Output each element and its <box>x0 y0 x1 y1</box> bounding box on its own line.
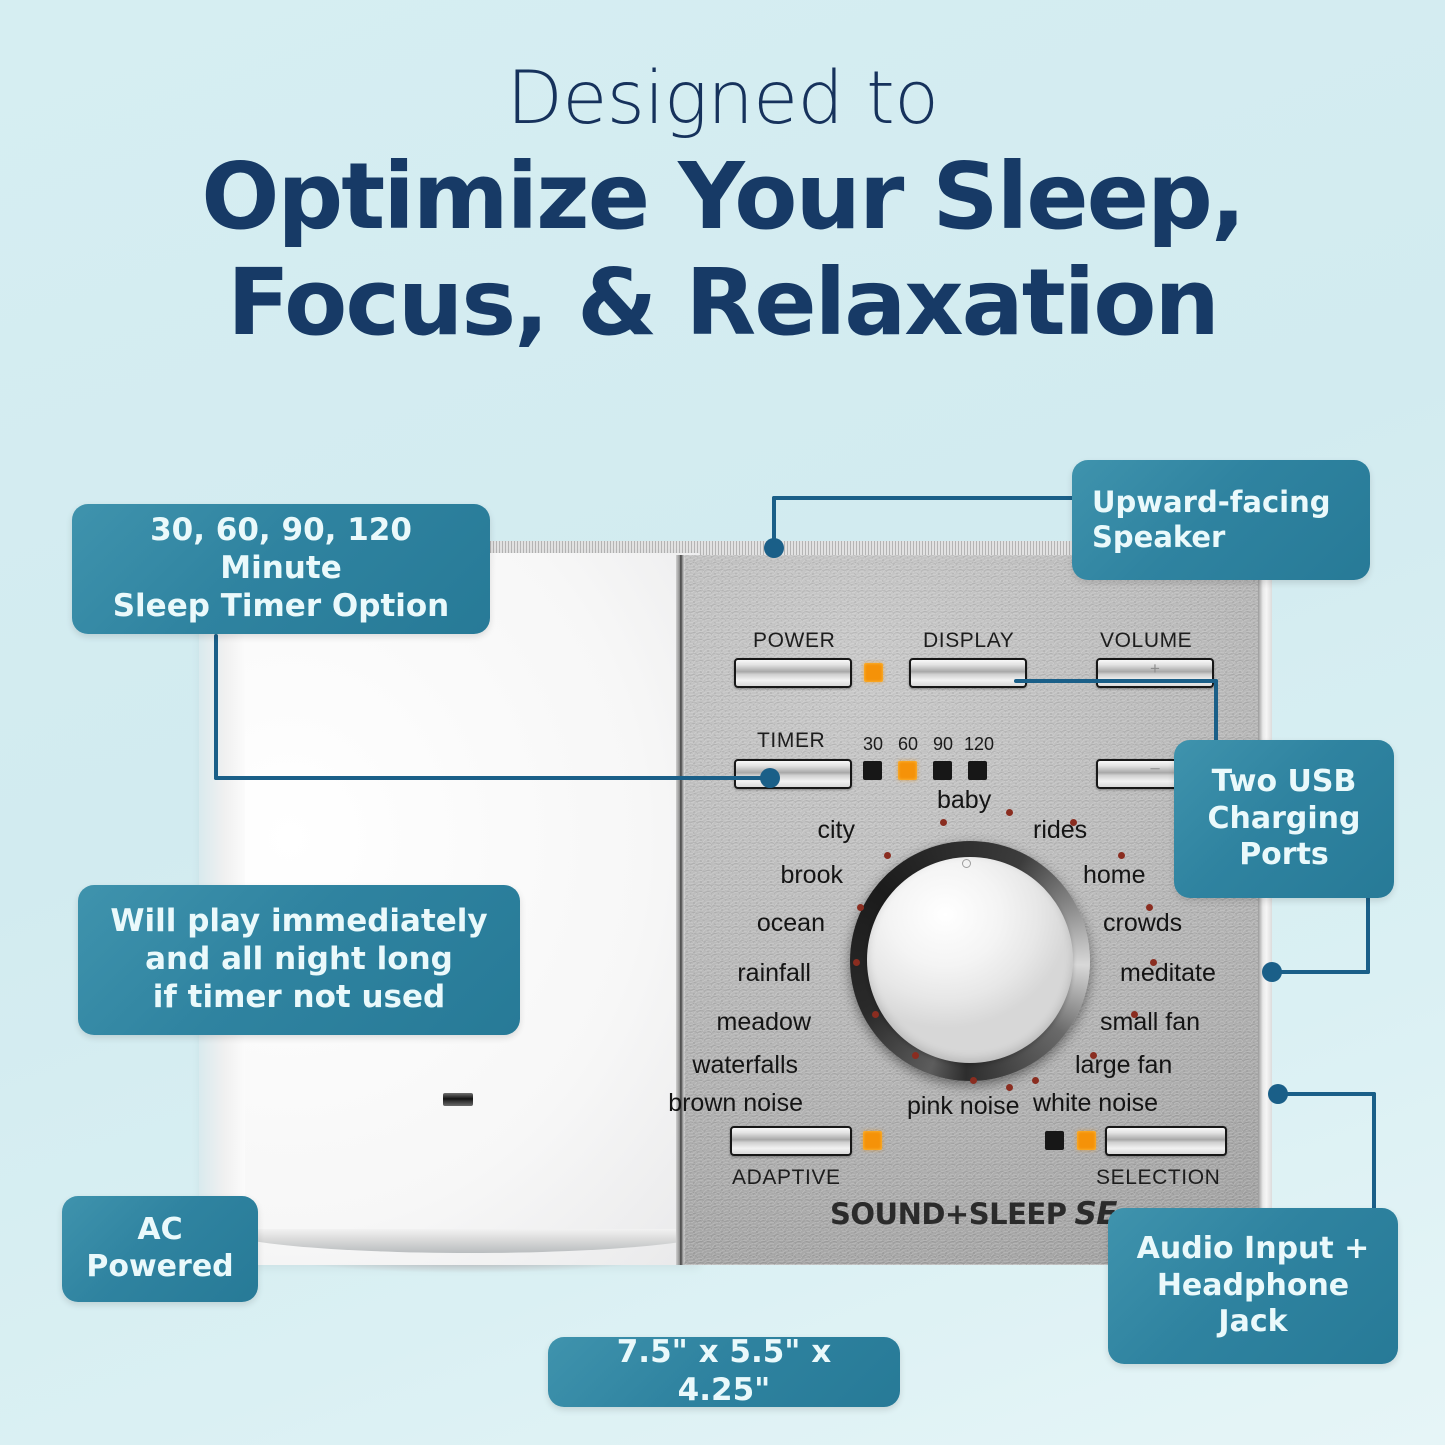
callout-jack-line-1: Audio Input + <box>1137 1231 1370 1268</box>
timer-60-label: 60 <box>898 734 918 755</box>
connector-timer-vertical <box>214 634 218 780</box>
power-label: POWER <box>753 629 835 653</box>
headline-line-3: Focus, & Relaxation <box>0 252 1445 353</box>
sound-label-ocean: ocean <box>535 909 825 938</box>
connector-timer-horizontal <box>214 776 774 780</box>
callout-dimensions-text: 7.5" x 5.5" x 4.25" <box>568 1334 880 1410</box>
dial-position-indicator-icon <box>962 859 971 868</box>
callout-speaker-line-2: Speaker <box>1092 520 1331 555</box>
dial-tick <box>853 959 860 966</box>
sound-label-brown-noise: brown noise <box>500 1089 803 1118</box>
callout-sleep-timer-line-1: 30, 60, 90, 120 Minute <box>92 512 470 588</box>
callout-speaker-line-1: Upward-facing <box>1092 485 1331 520</box>
callout-usb-line-3: Ports <box>1207 837 1360 874</box>
adaptive-label: ADAPTIVE <box>732 1166 841 1190</box>
connector-jack-horizontal <box>1278 1092 1376 1096</box>
volume-up-button[interactable]: + <box>1096 658 1214 688</box>
selection-label: SELECTION <box>1096 1166 1220 1190</box>
device-right-edge <box>1258 553 1272 1267</box>
dial-tick <box>1006 1084 1013 1091</box>
selection-led-on <box>1077 1131 1096 1150</box>
plus-icon: + <box>1098 659 1212 679</box>
callout-play-line-2: and all night long <box>110 941 487 979</box>
sound-label-home: home <box>1083 861 1146 890</box>
timer-90-led <box>933 761 952 780</box>
sound-label-small-fan: small fan <box>1100 1008 1200 1037</box>
power-led <box>864 663 883 682</box>
adaptive-button[interactable] <box>730 1126 852 1156</box>
dial-tick <box>970 1077 977 1084</box>
selection-button[interactable] <box>1105 1126 1227 1156</box>
connector-speaker-horizontal <box>772 496 1076 500</box>
connector-jack-vertical <box>1372 1092 1376 1210</box>
sound-label-city: city <box>595 816 855 845</box>
timer-90-label: 90 <box>933 734 953 755</box>
dial-knob[interactable] <box>867 857 1073 1063</box>
timer-30-led <box>863 761 882 780</box>
connector-dot-speaker <box>764 538 784 558</box>
callout-speaker: Upward-facing Speaker <box>1072 460 1370 580</box>
sound-label-baby: baby <box>937 786 991 815</box>
callout-jack-line-2: Headphone <box>1137 1268 1370 1305</box>
callout-sleep-timer: 30, 60, 90, 120 Minute Sleep Timer Optio… <box>72 504 490 634</box>
dial-tick <box>872 1011 879 1018</box>
callout-play-line-3: if timer not used <box>110 979 487 1017</box>
brand-logo: SOUND+SLEEPSE <box>830 1196 1117 1232</box>
callout-play-line-1: Will play immediately <box>110 903 487 941</box>
sound-label-meditate: meditate <box>1120 959 1216 988</box>
timer-label: TIMER <box>757 729 825 753</box>
callout-usb-ports: Two USB Charging Ports <box>1174 740 1394 898</box>
selection-led-off <box>1045 1131 1064 1150</box>
brown-noise-switch-icon <box>443 1093 473 1106</box>
sound-selection-dial[interactable] <box>850 841 1090 1081</box>
dial-tick <box>1118 852 1125 859</box>
sound-label-crowds: crowds <box>1103 909 1182 938</box>
dial-tick <box>1032 1077 1039 1084</box>
callout-sleep-timer-line-2: Sleep Timer Option <box>92 588 470 626</box>
sound-label-rides: rides <box>1033 816 1087 845</box>
callout-usb-line-1: Two USB <box>1207 764 1360 801</box>
sound-label-brook: brook <box>555 861 843 890</box>
callout-jack-line-3: Jack <box>1137 1304 1370 1341</box>
page-title: Designed to Optimize Your Sleep, Focus, … <box>0 62 1445 353</box>
timer-30-label: 30 <box>863 734 883 755</box>
sound-label-large-fan: large fan <box>1075 1051 1172 1080</box>
headline-line-2: Optimize Your Sleep, <box>0 143 1445 252</box>
dial-tick <box>884 852 891 859</box>
connector-usb-bottom-vertical <box>1366 896 1370 974</box>
connector-usb-top-horizontal <box>1014 679 1218 683</box>
callout-ac-line-1: AC <box>86 1212 233 1249</box>
adaptive-led <box>863 1131 882 1150</box>
connector-dot-usb <box>1262 962 1282 982</box>
sound-label-pink-noise: pink noise <box>907 1092 1020 1121</box>
callout-dimensions: 7.5" x 5.5" x 4.25" <box>548 1337 900 1407</box>
callout-audio-jack: Audio Input + Headphone Jack <box>1108 1208 1398 1364</box>
dial-tick <box>857 904 864 911</box>
display-button[interactable] <box>909 658 1027 688</box>
callout-ac-powered: AC Powered <box>62 1196 258 1302</box>
sound-label-rainfall: rainfall <box>525 959 811 988</box>
connector-usb-top-vertical <box>1214 679 1218 749</box>
timer-button[interactable] <box>734 759 852 789</box>
power-button[interactable] <box>734 658 852 688</box>
dial-tick <box>1006 809 1013 816</box>
timer-120-label: 120 <box>964 734 994 755</box>
connector-dot-jack <box>1268 1084 1288 1104</box>
connector-dot-timer <box>760 768 780 788</box>
callout-play-all-night: Will play immediately and all night long… <box>78 885 520 1035</box>
timer-60-led <box>898 761 917 780</box>
brand-name: SOUND+SLEEP <box>830 1197 1066 1231</box>
dial-tick <box>912 1052 919 1059</box>
sound-label-meadow: meadow <box>520 1008 811 1037</box>
sound-label-white-noise: white noise <box>1033 1089 1158 1118</box>
display-label: DISPLAY <box>923 629 1014 653</box>
headline-line-1: Designed to <box>0 62 1445 135</box>
volume-label: VOLUME <box>1100 629 1192 653</box>
callout-ac-line-2: Powered <box>86 1249 233 1286</box>
callout-usb-line-2: Charging <box>1207 801 1360 838</box>
timer-120-led <box>968 761 987 780</box>
sound-label-waterfalls: waterfalls <box>500 1051 798 1080</box>
connector-usb-bottom-horizontal <box>1272 970 1370 974</box>
dial-tick <box>940 819 947 826</box>
